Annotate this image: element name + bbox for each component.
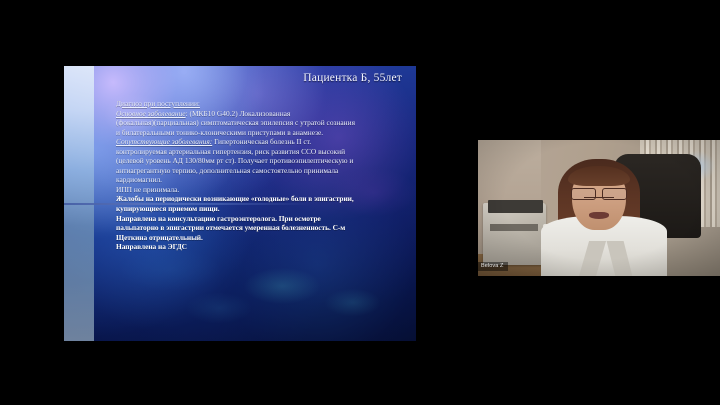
- printer-paper-slot: [490, 224, 538, 231]
- slide-line-8: антиагрегантную терпию, дополнительная с…: [116, 166, 412, 176]
- slide-line-4: и билатеральными тонико-клоническими при…: [116, 128, 412, 138]
- printer-control-panel: [488, 200, 544, 214]
- slide-line-9-text: кардиомагнил.: [116, 175, 162, 184]
- slide-line-9: кардиомагнил.: [116, 175, 412, 185]
- eyeglasses-bridge: [584, 197, 613, 198]
- person-mouth: [589, 212, 608, 219]
- slide-line-10-text: ИПП не принимала.: [116, 185, 179, 194]
- slide-line-5: Сопутствующие заболевания: Гипертоническ…: [116, 137, 412, 147]
- slide-line-15: Щеткина отрицательный.: [116, 233, 412, 243]
- participant-name-label: Belova Z: [478, 262, 508, 271]
- slide-line-14: пальпаторно в эпигастрии отмечается умер…: [116, 223, 412, 233]
- participant-video-tile[interactable]: Belova Z: [478, 140, 720, 276]
- slide-line-6-text: контролируемая артериальная гипертензия,…: [116, 147, 345, 156]
- slide-line-16: Направлена на ЭГДС: [116, 242, 412, 252]
- slide-line-2-label: Основное заболевание: [116, 109, 186, 118]
- slide-line-11-text: Жалобы на периодически возникающие «голо…: [116, 194, 354, 203]
- slide-line-16-text: Направлена на ЭГДС: [116, 242, 187, 251]
- slide-line-3-text: (фокальная)(парциальная) симптоматическа…: [116, 118, 355, 127]
- slide-title: Пациентка Б, 55лет: [303, 72, 402, 84]
- slide-line-7: (целевой уровень АД 130/80мм рт ст). Пол…: [116, 156, 412, 166]
- slide-line-1-text: Диагноз при поступлении:: [116, 99, 200, 108]
- slide-line-7-text: (целевой уровень АД 130/80мм рт ст). Пол…: [116, 156, 353, 165]
- slide-line-2: Основное заболевание: (МКБ10 G40.2) Лока…: [116, 109, 412, 119]
- slide-line-15-text: Щеткина отрицательный.: [116, 233, 203, 242]
- slide-line-13: Направлена на консультацию гастроэнтерол…: [116, 214, 412, 224]
- presentation-slide: Пациентка Б, 55лет Диагноз при поступлен…: [64, 66, 416, 341]
- slide-line-5-text: Гипертоническая болезнь II ст.: [212, 137, 311, 146]
- slide-line-12: купирующиеся приемом пищи.: [116, 204, 412, 214]
- slide-line-2-text: : (МКБ10 G40.2) Локализованная: [186, 109, 291, 118]
- slide-line-10: ИПП не принимала.: [116, 185, 412, 195]
- slide-line-3: (фокальная)(парциальная) симптоматическа…: [116, 118, 412, 128]
- slide-line-1: Диагноз при поступлении:: [116, 99, 412, 109]
- slide-line-12-text: купирующиеся приемом пищи.: [116, 204, 220, 213]
- slide-line-6: контролируемая артериальная гипертензия,…: [116, 147, 412, 157]
- screen-share-stage: Пациентка Б, 55лет Диагноз при поступлен…: [0, 0, 720, 405]
- slide-line-4-text: и билатеральными тонико-клоническими при…: [116, 128, 323, 137]
- slide-content: Пациентка Б, 55лет Диагноз при поступлен…: [64, 66, 416, 341]
- slide-line-5-label: Сопутствующие заболевания:: [116, 137, 212, 146]
- slide-body-text: Диагноз при поступлении: Основное заболе…: [116, 99, 412, 252]
- slide-line-14-text: пальпаторно в эпигастрии отмечается умер…: [116, 223, 345, 232]
- slide-line-11: Жалобы на периодически возникающие «голо…: [116, 194, 412, 204]
- slide-line-13-text: Направлена на консультацию гастроэнтерол…: [116, 214, 321, 223]
- slide-line-8-text: антиагрегантную терпию, дополнительная с…: [116, 166, 338, 175]
